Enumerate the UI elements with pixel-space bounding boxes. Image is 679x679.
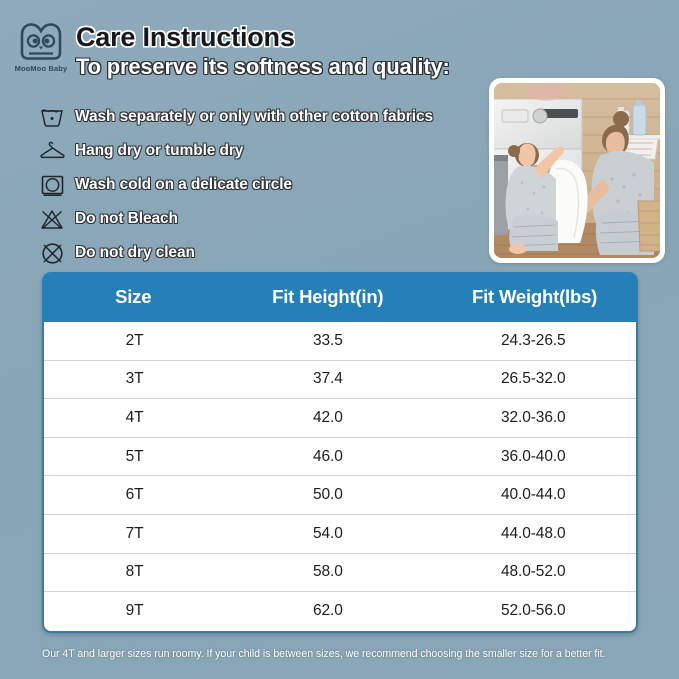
cell-weight: 24.3-26.5 bbox=[431, 332, 636, 350]
cell-height: 46.0 bbox=[225, 448, 430, 466]
care-instruction-text: Do not Bleach bbox=[75, 210, 178, 228]
page-subtitle: To preserve its softness and quality: bbox=[76, 54, 450, 80]
brand-logo: MooMoo Baby bbox=[10, 22, 72, 73]
cell-weight: 44.0-48.0 bbox=[431, 525, 636, 543]
table-body: 2T 33.5 24.3-26.5 3T 37.4 26.5-32.0 4T 4… bbox=[42, 322, 638, 633]
cell-height: 33.5 bbox=[225, 332, 430, 350]
cell-weight: 26.5-32.0 bbox=[431, 370, 636, 388]
cell-size: 5T bbox=[44, 448, 225, 466]
cell-size: 3T bbox=[44, 370, 225, 388]
care-instruction-item: Wash separately or only with other cotto… bbox=[38, 100, 488, 134]
cell-height: 54.0 bbox=[225, 525, 430, 543]
care-instruction-item: Hang dry or tumble dry bbox=[38, 134, 488, 168]
table-row: 5T 46.0 36.0-40.0 bbox=[44, 438, 636, 477]
table-row: 9T 62.0 52.0-56.0 bbox=[44, 592, 636, 631]
laundry-photo-frame bbox=[489, 78, 665, 263]
sizing-footnote: Our 4T and larger sizes run roomy. If yo… bbox=[42, 648, 642, 660]
cell-weight: 32.0-36.0 bbox=[431, 409, 636, 427]
care-instruction-item: Do not Bleach bbox=[38, 202, 488, 236]
care-instruction-item: Wash cold on a delicate circle bbox=[38, 168, 488, 202]
size-chart-table: Size Fit Height(in) Fit Weight(lbs) 2T 3… bbox=[42, 272, 638, 633]
care-instruction-text: Wash separately or only with other cotto… bbox=[75, 108, 433, 126]
cell-height: 37.4 bbox=[225, 370, 430, 388]
owl-face-logo-icon bbox=[18, 22, 64, 62]
cell-weight: 48.0-52.0 bbox=[431, 563, 636, 581]
table-row: 8T 58.0 48.0-52.0 bbox=[44, 554, 636, 593]
table-row: 4T 42.0 32.0-36.0 bbox=[44, 399, 636, 438]
tumble-dry-square-icon bbox=[38, 172, 66, 198]
table-row: 6T 50.0 40.0-44.0 bbox=[44, 476, 636, 515]
laundry-photo-illustration bbox=[494, 83, 660, 258]
cell-size: 7T bbox=[44, 525, 225, 543]
page-title: Care Instructions bbox=[76, 22, 450, 52]
cell-height: 42.0 bbox=[225, 409, 430, 427]
care-instruction-list: Wash separately or only with other cotto… bbox=[38, 100, 488, 270]
column-header-size: Size bbox=[42, 286, 224, 308]
table-row: 2T 33.5 24.3-26.5 bbox=[44, 322, 636, 361]
column-header-weight: Fit Weight(lbs) bbox=[431, 286, 638, 308]
cell-size: 9T bbox=[44, 602, 225, 620]
cell-height: 62.0 bbox=[225, 602, 430, 620]
brand-name: MooMoo Baby bbox=[10, 64, 72, 73]
table-row: 3T 37.4 26.5-32.0 bbox=[44, 361, 636, 400]
cell-weight: 36.0-40.0 bbox=[431, 448, 636, 466]
cell-weight: 52.0-56.0 bbox=[431, 602, 636, 620]
care-instruction-item: Do not dry clean bbox=[38, 236, 488, 270]
cell-size: 8T bbox=[44, 563, 225, 581]
do-not-bleach-icon bbox=[38, 206, 66, 232]
cell-size: 2T bbox=[44, 332, 225, 350]
table-header-row: Size Fit Height(in) Fit Weight(lbs) bbox=[42, 272, 638, 322]
table-row: 7T 54.0 44.0-48.0 bbox=[44, 515, 636, 554]
care-instruction-text: Do not dry clean bbox=[75, 244, 195, 262]
cell-size: 6T bbox=[44, 486, 225, 504]
cell-size: 4T bbox=[44, 409, 225, 427]
wash-tub-one-dot-icon bbox=[38, 104, 66, 130]
column-header-height: Fit Height(in) bbox=[224, 286, 431, 308]
do-not-dry-clean-icon bbox=[38, 240, 66, 266]
care-instruction-text: Hang dry or tumble dry bbox=[75, 142, 243, 160]
cell-weight: 40.0-44.0 bbox=[431, 486, 636, 504]
cell-height: 58.0 bbox=[225, 563, 430, 581]
laundry-photo bbox=[494, 83, 660, 258]
page-header: MooMoo Baby Care Instructions To preserv… bbox=[0, 0, 679, 88]
clothes-hanger-icon bbox=[38, 138, 66, 164]
cell-height: 50.0 bbox=[225, 486, 430, 504]
title-group: Care Instructions To preserve its softne… bbox=[76, 22, 450, 80]
care-instruction-text: Wash cold on a delicate circle bbox=[75, 176, 292, 194]
